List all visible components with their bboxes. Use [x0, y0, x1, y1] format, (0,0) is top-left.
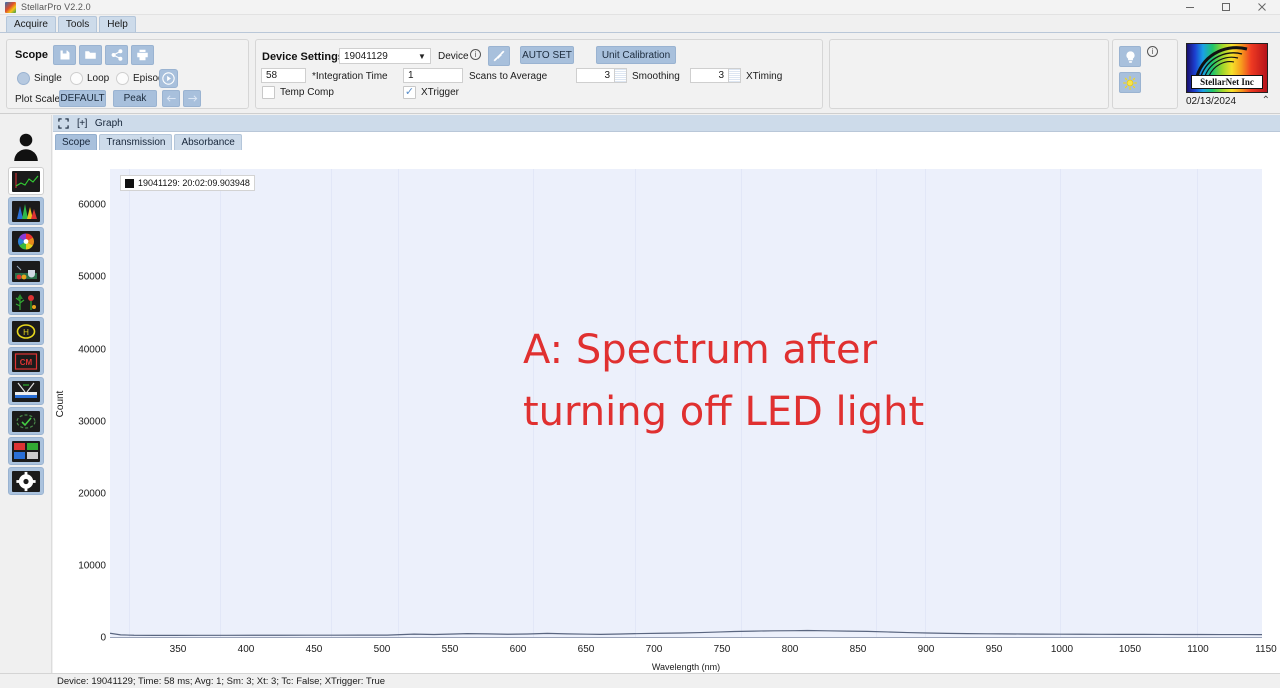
auto-set-button[interactable]: AUTO SET	[520, 46, 574, 64]
check-icon: ✓	[405, 87, 414, 98]
left-sidebar: H CM	[0, 115, 52, 688]
xtiming-spinner[interactable]	[729, 68, 741, 83]
print-icon[interactable]	[131, 45, 154, 65]
x-axis-label: Wavelength (nm)	[110, 662, 1262, 672]
temp-comp-checkbox-row[interactable]: Temp Comp	[262, 86, 334, 99]
scope-panel: Scope Single Loop Ep	[6, 39, 249, 109]
prev-arrow-icon[interactable]	[162, 90, 180, 107]
application-window: StellarPro V2.2.0 Acquire Tools Help Sco…	[0, 0, 1280, 688]
sidebar-item-settings[interactable]	[8, 467, 44, 495]
play-icon[interactable]	[159, 69, 178, 88]
device-id-combo[interactable]: 19041129 ▼	[339, 48, 431, 64]
sidebar-item-multi-panel[interactable]	[8, 437, 44, 465]
graph-title: Graph	[95, 118, 123, 129]
spectrum-curve	[110, 169, 1262, 637]
radio-loop[interactable]	[70, 72, 83, 85]
plot-scale-value[interactable]: DEFAULT	[59, 90, 106, 107]
add-graph-icon[interactable]: [+]	[77, 118, 87, 129]
brand-panel: StellarNet Inc 02/13/2024 ⌃	[1180, 39, 1276, 109]
scope-panel-title: Scope	[15, 49, 48, 61]
integration-time-label: *Integration Time	[312, 71, 388, 82]
unit-calibration-button[interactable]: Unit Calibration	[596, 46, 676, 64]
multi-panel-icon	[12, 441, 40, 462]
status-bar: Device: 19041129; Time: 58 ms; Avg: 1; S…	[53, 673, 1280, 688]
smoothing-spinner[interactable]	[615, 68, 627, 83]
sidebar-item-color-wheel[interactable]	[8, 227, 44, 255]
x-tick-600: 600	[510, 644, 527, 655]
device-settings-panel: Device Settings 19041129 ▼ Device i AUTO…	[255, 39, 823, 109]
device-settings-title: Device Settings	[262, 51, 344, 63]
y-tick-3: 30000	[56, 416, 106, 427]
open-folder-icon[interactable]	[79, 45, 102, 65]
app-icon	[5, 2, 16, 13]
y-tick-2: 20000	[56, 488, 106, 499]
chevron-up-icon[interactable]: ⌃	[1262, 95, 1270, 106]
x-tick-400: 400	[238, 644, 255, 655]
cm-color-icon: CM	[12, 351, 40, 372]
xtrigger-checkbox[interactable]: ✓	[403, 86, 416, 99]
chart-legend: 19041129: 20:02:09.903948	[120, 175, 255, 191]
empty-panel	[829, 39, 1109, 109]
x-tick-1050: 1050	[1119, 644, 1141, 655]
sidebar-item-thin-film[interactable]	[8, 377, 44, 405]
user-avatar-icon[interactable]	[10, 130, 42, 162]
status-text: Device: 19041129; Time: 58 ms; Avg: 1; S…	[57, 676, 385, 687]
logo-arc-icon	[1195, 46, 1253, 78]
mode-loop[interactable]: Loop	[70, 72, 109, 85]
sidebar-item-haze-meter[interactable]: H	[8, 317, 44, 345]
y-tick-6: 60000	[56, 200, 106, 211]
tab-absorbance[interactable]: Absorbance	[174, 134, 241, 150]
y-tick-0: 0	[56, 633, 106, 644]
radio-episodic[interactable]	[116, 72, 129, 85]
x-tick-950: 950	[986, 644, 1003, 655]
x-tick-450: 450	[306, 644, 323, 655]
plot-scale-label: Plot Scale	[15, 94, 60, 105]
mode-loop-label: Loop	[87, 73, 109, 84]
haze-meter-icon: H	[12, 321, 40, 342]
lightbulb-icon[interactable]	[1119, 46, 1141, 67]
scans-to-average-label: Scans to Average	[469, 71, 547, 82]
peak-button[interactable]: Peak	[113, 90, 157, 107]
graph-header-bar: [+] Graph	[53, 115, 1280, 132]
light-info-icon[interactable]: i	[1147, 46, 1158, 57]
plug-connect-icon[interactable]	[488, 46, 510, 66]
x-tick-1000: 1000	[1051, 644, 1073, 655]
device-label: Device	[438, 51, 469, 62]
tab-scope[interactable]: Scope	[55, 134, 97, 150]
sidebar-item-pass-check[interactable]	[8, 407, 44, 435]
sidebar-item-plant-growth[interactable]	[8, 287, 44, 315]
xtrigger-label: XTrigger	[421, 87, 459, 98]
next-arrow-icon[interactable]	[183, 90, 201, 107]
x-tick-800: 800	[782, 644, 799, 655]
settings-gear-icon	[12, 471, 40, 492]
x-tick-850: 850	[850, 644, 867, 655]
expand-icon[interactable]	[58, 118, 69, 129]
x-tick-500: 500	[374, 644, 391, 655]
close-icon[interactable]	[1244, 0, 1280, 15]
sidebar-item-cm-color[interactable]: CM	[8, 347, 44, 375]
pass-check-icon	[12, 411, 40, 432]
y-tick-5: 50000	[56, 272, 106, 283]
brand-name: StellarNet Inc	[1191, 75, 1263, 89]
main-content: [+] Graph Scope Transmission Absorbance …	[53, 115, 1280, 673]
menu-item-help[interactable]: Help	[99, 16, 136, 32]
window-controls	[1172, 0, 1280, 15]
save-icon[interactable]	[53, 45, 76, 65]
y-tick-4: 40000	[56, 344, 106, 355]
svg-text:H: H	[23, 328, 29, 337]
mode-single[interactable]: Single	[17, 72, 62, 85]
minimize-icon[interactable]	[1172, 0, 1208, 15]
stellarnet-logo: StellarNet Inc	[1186, 43, 1268, 93]
device-id-value: 19041129	[344, 51, 388, 62]
share-icon[interactable]	[105, 45, 128, 65]
x-tick-750: 750	[714, 644, 731, 655]
radio-single[interactable]	[17, 72, 30, 85]
brand-date: 02/13/2024	[1186, 96, 1236, 107]
light-control-panel: i	[1112, 39, 1178, 109]
temp-comp-checkbox[interactable]	[262, 86, 275, 99]
legend-swatch	[125, 179, 134, 188]
chart-area: Count 0 10000 20000 30000 40000 50000 60…	[53, 152, 1280, 657]
smoothing-label: Smoothing	[632, 71, 680, 82]
menu-item-tools[interactable]: Tools	[58, 16, 97, 32]
tab-transmission[interactable]: Transmission	[99, 134, 172, 150]
mode-single-label: Single	[34, 73, 62, 84]
svg-text:CM: CM	[20, 358, 33, 367]
y-axis: Count 0 10000 20000 30000 40000 50000 60…	[53, 169, 106, 638]
sidebar-item-spectrum-trace[interactable]	[8, 167, 44, 195]
toolbar-strip: Scope Single Loop Ep	[0, 34, 1280, 114]
xtiming-label: XTiming	[746, 71, 782, 82]
scans-to-average-input[interactable]: 1	[403, 68, 463, 83]
temp-comp-label: Temp Comp	[280, 87, 334, 98]
sidebar-item-lab-analysis[interactable]	[8, 257, 44, 285]
x-tick-700: 700	[646, 644, 663, 655]
x-tick-900: 900	[918, 644, 935, 655]
light-on-icon[interactable]	[1119, 72, 1141, 93]
y-axis-label: Count	[55, 390, 66, 417]
y-tick-1: 10000	[56, 560, 106, 571]
menu-item-acquire[interactable]: Acquire	[6, 16, 56, 32]
x-tick-1100: 1100	[1187, 644, 1209, 655]
integration-time-input[interactable]: 58	[261, 68, 306, 83]
spectrum-trace-icon	[12, 171, 40, 192]
x-tick-1150: 1150	[1255, 644, 1277, 655]
thin-film-icon	[12, 381, 40, 402]
x-tick-350: 350	[170, 644, 187, 655]
sidebar-icon-list: H CM	[8, 167, 46, 495]
legend-label: 19041129: 20:02:09.903948	[138, 178, 250, 188]
plant-growth-icon	[12, 291, 40, 312]
color-wheel-icon	[12, 231, 40, 252]
maximize-icon[interactable]	[1208, 0, 1244, 15]
title-bar: StellarPro V2.2.0	[0, 0, 1280, 15]
sidebar-footer	[0, 673, 53, 688]
color-peaks-icon	[12, 201, 40, 222]
sidebar-item-color-peaks[interactable]	[8, 197, 44, 225]
x-tick-550: 550	[442, 644, 459, 655]
plot-region[interactable]: 19041129: 20:02:09.903948 A: Spectrum af…	[110, 169, 1262, 638]
menu-bar: Acquire Tools Help	[0, 16, 1280, 33]
lab-analysis-icon	[12, 261, 40, 282]
window-title: StellarPro V2.2.0	[21, 2, 91, 12]
chevron-down-icon[interactable]: ▼	[414, 49, 430, 63]
info-icon[interactable]: i	[470, 49, 481, 60]
xtrigger-checkbox-row[interactable]: ✓ XTrigger	[403, 86, 459, 99]
graph-tab-row: Scope Transmission Absorbance	[53, 133, 1280, 150]
smoothing-input[interactable]: 3	[576, 68, 615, 83]
x-tick-650: 650	[578, 644, 595, 655]
xtiming-input[interactable]: 3	[690, 68, 729, 83]
